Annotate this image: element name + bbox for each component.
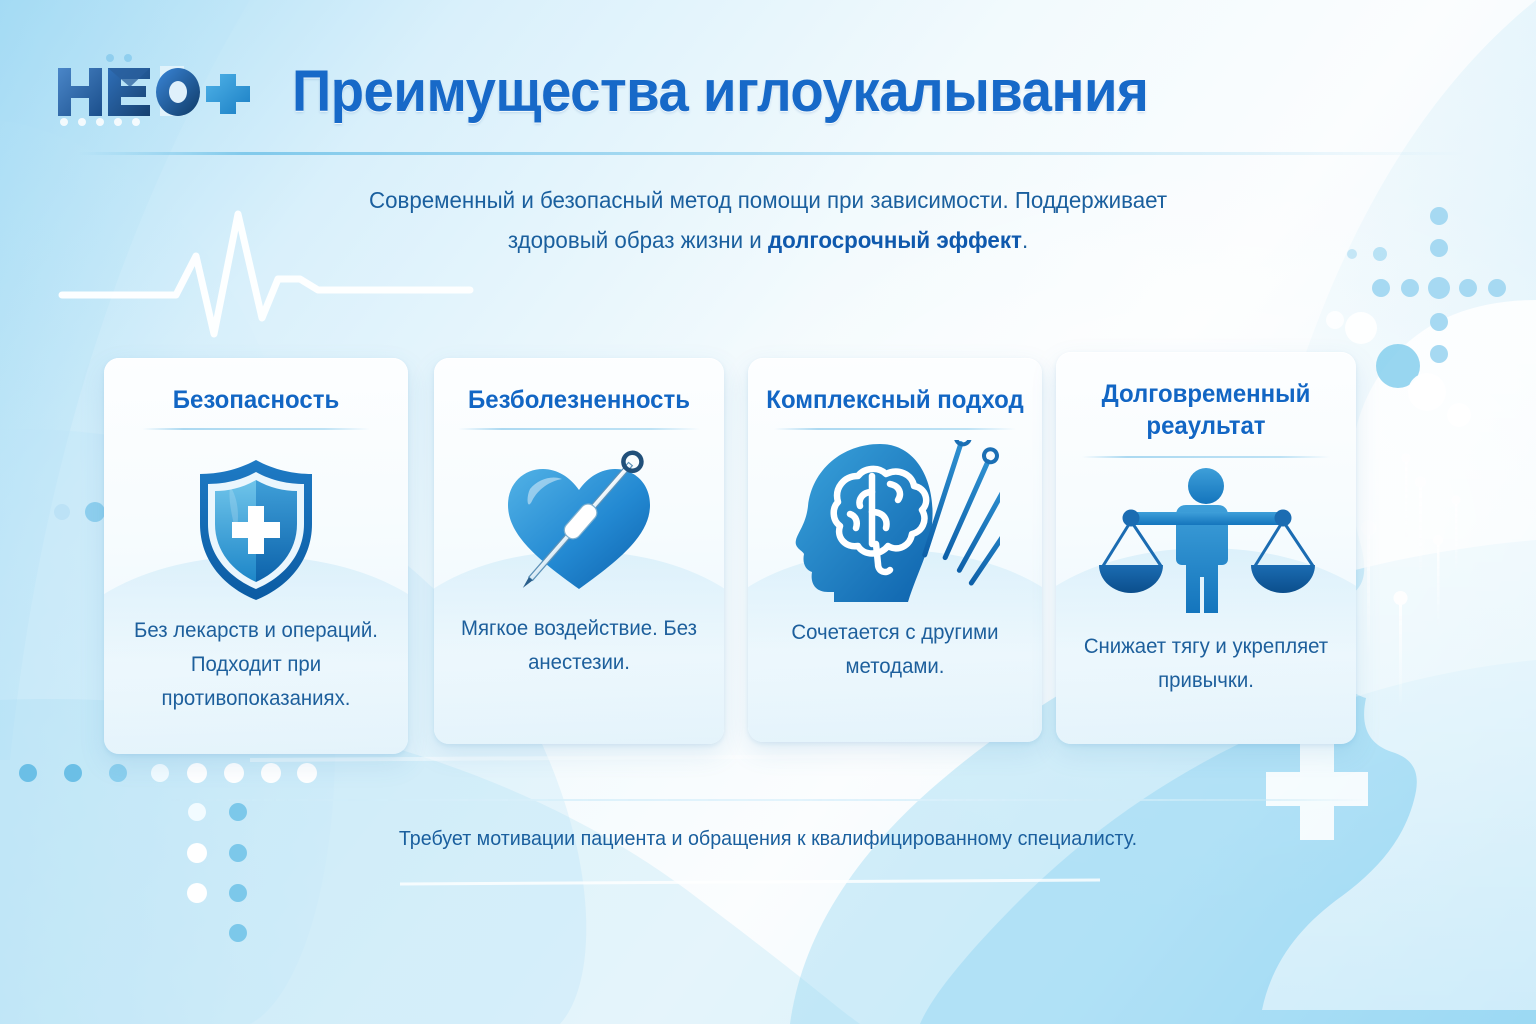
card-description: Мягкое воздействие. Без анестезии. (438, 612, 719, 680)
card-description: Снижает тягу и укрепляет привычки. (1061, 630, 1352, 698)
card-title: Комплексный подход (754, 384, 1036, 416)
footer-note: Требует мотивации пациента и обращения к… (31, 824, 1506, 854)
person-scales-icon (1056, 464, 1356, 616)
infographic-canvas: Преимущества иглоукалывания Современный … (0, 0, 1536, 1024)
benefit-card-safety[interactable]: Безопасность (104, 358, 408, 754)
head-brain-needles-icon (748, 438, 1042, 606)
card-title: Безопасность (110, 384, 402, 416)
card-divider (458, 428, 700, 430)
card-title: Долговременный реаультат (1062, 378, 1350, 442)
benefit-cards: Безопасность (0, 0, 1536, 1024)
card-divider (774, 428, 1016, 430)
card-title: Безболезненность (440, 384, 718, 416)
card-description: Без лекарств и операций. Подходит при пр… (109, 614, 404, 716)
footer-divider (168, 799, 1368, 801)
heart-needle-icon (434, 444, 724, 604)
card-description: Сочетается с другими методами. (752, 616, 1037, 684)
card-divider (142, 428, 370, 430)
benefit-card-complex-approach[interactable]: Комплексный подход (748, 358, 1042, 742)
shield-cross-icon (104, 450, 408, 610)
benefit-card-painless[interactable]: Безболезненность (434, 358, 724, 744)
benefit-card-long-term-result[interactable]: Долговременный реаультат (1056, 352, 1356, 744)
card-divider (1082, 456, 1330, 458)
